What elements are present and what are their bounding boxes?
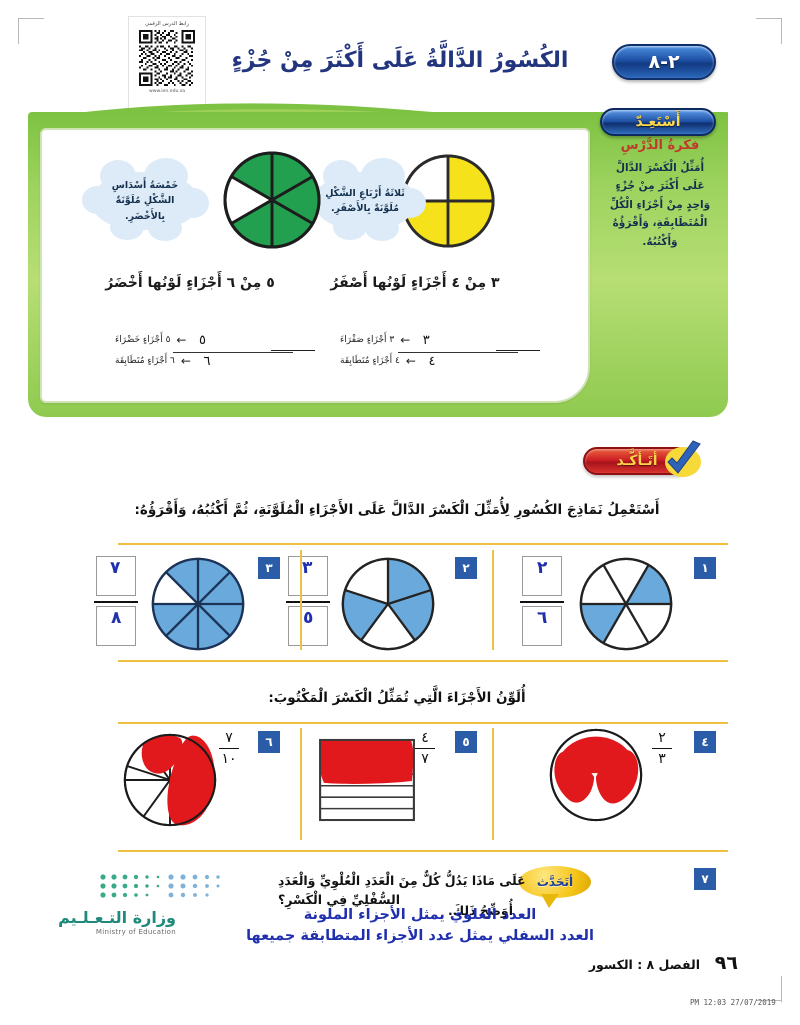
lesson-idea-body: أُمَثِّلُ الْكَسْرَ الدَّالَّ عَلَى أَكْ…: [606, 159, 714, 251]
exercise-divider-2: [300, 550, 302, 650]
fraction-bar-yellow: [398, 352, 518, 353]
fraction-breakdown-green: ٥ ← ٥ أَجْزَاءٍ خَضْرَاءَ ٦ ← ٦ أَجْزَاء…: [115, 330, 315, 371]
crop-mark: [18, 18, 44, 19]
exercise-4-numerator: ٢: [645, 730, 679, 746]
ministry-name-english: Ministry of Education: [36, 928, 176, 936]
numerator-value-yellow: ٣: [416, 333, 436, 348]
ministry-logo: وزارة التـعـلـيم Ministry of Education: [36, 908, 176, 936]
exercise-2-circle-model: [340, 556, 436, 652]
textbook-page: رابط الدرس الرقمي: [0, 0, 800, 1025]
fraction-bar-green: [173, 352, 293, 353]
denominator-value-green: ٦: [197, 354, 217, 369]
divider-middle-2: [118, 722, 728, 724]
qr-matrix: [139, 30, 195, 86]
exercise-2-numerator-answer: ٣: [302, 558, 312, 578]
crop-mark: [18, 18, 19, 44]
exercise-3-denominator-answer: ٨: [111, 608, 121, 628]
exercise-6-circle-model[interactable]: [122, 732, 218, 828]
exercise-1-numerator-answer: ٢: [537, 558, 547, 578]
exercise-2-fraction-bar: [286, 601, 330, 603]
crop-mark: [781, 976, 782, 1002]
crop-mark: [781, 18, 782, 44]
instruction-text-1: أَسْتَعْمِلُ نَمَاذِجَ الكُسُورِ لِأُمَث…: [52, 502, 742, 518]
divider-middle-1: [118, 660, 728, 662]
exercise-number-1: ١: [694, 557, 716, 579]
exercise-divider-1: [492, 550, 494, 650]
cloud-text-yellow: ثَلاثَةُ أَرْبَاعِ الشَّكْلِ مُلَوَّنَةٌ…: [325, 186, 405, 216]
cloud-callout-yellow: ثَلاثَةُ أَرْبَاعِ الشَّكْلِ مُلَوَّنَةٌ…: [315, 172, 415, 230]
decorative-dots: [97, 872, 227, 902]
exercise-1-fraction-bar: [520, 601, 564, 603]
exercise-5-fraction-bar: [415, 748, 435, 749]
arrow-icon: ←: [181, 355, 191, 367]
fraction-numerator-row-green: ٥ ← ٥ أَجْزَاءٍ خَضْرَاءَ: [115, 330, 315, 350]
lesson-idea-title: فكرةُ الدَّرْسِ: [606, 138, 714, 153]
print-timestamp: 27/07/2019 12:03 PM: [690, 998, 776, 1007]
exercise-number-6: ٦: [258, 731, 280, 753]
crop-mark: [756, 18, 782, 19]
exercise-divider-5: [300, 728, 302, 840]
qr-caption-top: رابط الدرس الرقمي: [145, 21, 189, 27]
exercise-3-fraction-bar: [94, 601, 138, 603]
exercise-number-7: ٧: [694, 868, 716, 890]
divider-bottom: [118, 850, 728, 852]
arrow-icon: ←: [176, 334, 186, 346]
ready-badge: أَسْتَعِـدّ: [600, 108, 716, 136]
sentence-yellow: ٣ مِنْ ٤ أَجْزَاءٍ لَوْنُها أَصْفَرُ: [320, 275, 510, 291]
fraction-breakdown-yellow: ٣ ← ٣ أَجْزَاءٍ صَفْرَاءَ ٤ ← ٤ أَجْزَاء…: [340, 330, 540, 371]
cloud-callout-green: خَمْسَةُ أَسْدَاسِ الشَّكْلِ مُلَوَّنَةٌ…: [92, 172, 198, 230]
fraction-numerator-row-yellow: ٣ ← ٣ أَجْزَاءٍ صَفْرَاءَ: [340, 330, 540, 350]
exercise-number-5: ٥: [455, 731, 477, 753]
exercise-4-fraction-bar: [652, 748, 672, 749]
ministry-name-arabic: وزارة التـعـلـيم: [36, 908, 176, 927]
numerator-words-yellow: ٣ أَجْزَاءٍ صَفْرَاءَ: [340, 335, 394, 345]
exercise-2-denominator-answer: ٥: [303, 608, 313, 628]
exercise-4-circle-model[interactable]: [548, 727, 644, 823]
exercise-divider-4: [492, 728, 494, 840]
model-circle-green: [222, 150, 322, 250]
instruction-text-2: أُلَوِّنُ الأَجْزَاءَ الَّتِي تُمَثِّلُ …: [52, 690, 742, 706]
exercise-number-2: ٢: [455, 557, 477, 579]
chapter-label: الفصل ٨ : الكسور: [589, 957, 700, 972]
qr-caption-bottom: www.ien.edu.sa: [149, 89, 185, 94]
divider-top: [118, 543, 728, 545]
cloud-text-green: خَمْسَةُ أَسْدَاسِ الشَّكْلِ مُلَوَّنَةٌ…: [102, 178, 188, 224]
exercise-1-denominator-answer: ٦: [537, 608, 547, 628]
denominator-words-green: ٦ أَجْزَاءٍ مُتَطَابِقَة: [115, 356, 175, 366]
exercise-number-3: ٣: [258, 557, 280, 579]
denominator-words-yellow: ٤ أَجْزَاءٍ مُتَطَابِقَة: [340, 356, 400, 366]
exercise-6-fraction-bar: [219, 748, 239, 749]
handwritten-answer-line-1: العدد العلوي يمثل الأجزاء الملونة: [250, 906, 590, 926]
lesson-number-badge: ٢-٨: [612, 44, 716, 80]
page-title: الكُسُورُ الدَّالَّةُ عَلَى أَكْثَرَ مِن…: [210, 48, 590, 73]
handwritten-answer-line-2: العدد السفلي يمثل عدد الأجزاء المتطابقة …: [235, 927, 605, 947]
arrow-icon: ←: [400, 334, 410, 346]
lesson-idea-box: فكرةُ الدَّرْسِ أُمَثِّلُ الْكَسْرَ الدَ…: [598, 128, 722, 403]
exercise-number-4: ٤: [694, 731, 716, 753]
denominator-value-yellow: ٤: [422, 354, 442, 369]
fraction-denominator-row-green: ٦ ← ٦ أَجْزَاءٍ مُتَطَابِقَة: [115, 351, 315, 371]
exercise-4-denominator: ٣: [645, 751, 679, 767]
exercise-1-circle-model: [578, 556, 674, 652]
exercise-4-fraction: ٢ ٣: [645, 730, 679, 767]
exercise-3-numerator-answer: ٧: [110, 558, 120, 578]
fraction-denominator-row-yellow: ٤ ← ٤ أَجْزَاءٍ مُتَطَابِقَة: [340, 351, 540, 371]
arrow-icon: ←: [406, 355, 416, 367]
exercise-5-rectangle-model[interactable]: [318, 738, 416, 822]
numerator-words-green: ٥ أَجْزَاءٍ خَضْرَاءَ: [115, 335, 170, 345]
exercise-3-circle-model: [150, 556, 246, 652]
qr-code-icon: [139, 30, 195, 86]
page-number: ٩٦: [715, 952, 738, 974]
sentence-green: ٥ مِنْ ٦ أَجْزَاءٍ لَوْنُها أَخْضَرُ: [95, 275, 285, 291]
checkmark-icon: [660, 440, 706, 482]
numerator-value-green: ٥: [192, 333, 212, 348]
